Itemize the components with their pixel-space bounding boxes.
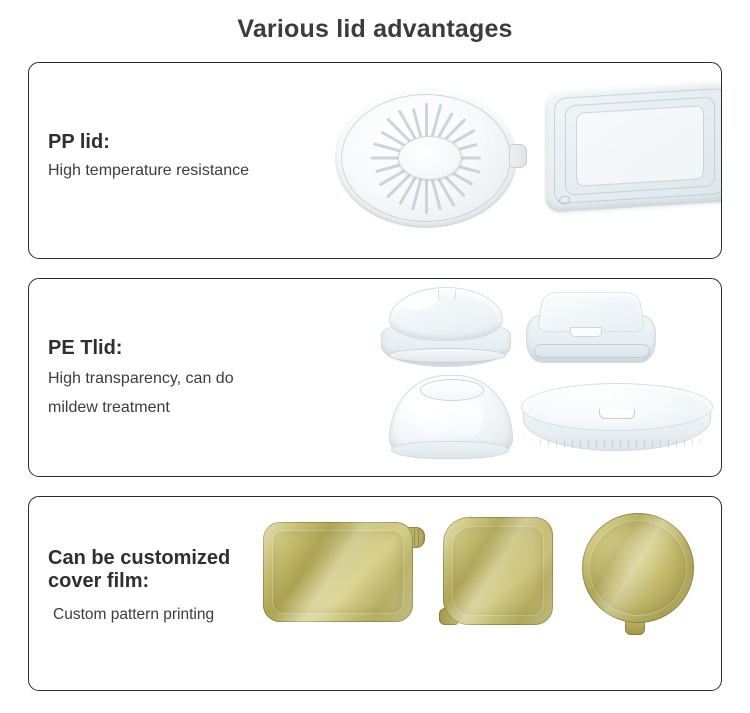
foil-rect-body [263,522,413,622]
card-pp-subtitle: High temperature resistance [48,158,249,183]
rect-lid-corner-notch [559,195,570,205]
foil-square-body [443,517,553,625]
flat-lid-top-face [521,383,713,431]
card-pp-lid: PP lid: High temperature resistance [28,62,722,259]
round-pp-lid-image [332,78,527,238]
rect-lid-rib-inner [576,105,704,187]
foil-square-inner-panel [452,526,544,616]
card-cover-film-subtitle: Custom pattern printing [48,602,230,627]
card-pe-text-block: PE Tlid: High transparency, can do milde… [48,337,234,422]
foil-rect-inner-panel [272,530,404,614]
foil-round-body [582,513,694,623]
dome-lid-facet-left [416,401,453,441]
round-gold-foil-lid-image [577,513,707,635]
dome-lid-top-face [420,379,484,401]
dome-lid-facet-right [448,401,485,441]
rectangular-pp-lid-image [545,85,722,220]
square-gold-foil-lid-image [439,517,563,635]
card-pe-heading: PE Tlid: [48,337,234,360]
card-pp-heading: PP lid: [48,131,249,154]
heart-lid-dome [389,287,503,341]
square-pe-lid-image [526,287,654,367]
heart-lid-cleft [438,290,456,303]
round-pp-lid-center-panel [398,136,462,180]
card-cover-film-heading: Can be customized cover film: [48,547,230,593]
square-lid-rim [534,344,650,358]
card-pp-text-block: PP lid: High temperature resistance [48,131,249,183]
dome-pe-lid-image [389,375,511,459]
rectangular-gold-foil-lid-image [263,516,425,626]
flat-oval-pe-lid-image [521,383,711,455]
rectangular-pp-lid-body [545,79,722,213]
card-cover-film-text-block: Can be customized cover film: Custom pat… [48,547,230,627]
card-pe-lid: PE Tlid: High transparency, can do milde… [28,278,722,477]
page-title: Various lid advantages [0,0,750,49]
heart-pe-lid-image [381,287,511,369]
dome-lid-base [391,441,509,459]
heart-lid-rim [388,348,506,363]
card-cover-film: Can be customized cover film: Custom pat… [28,496,722,691]
square-lid-tab [570,327,602,337]
flat-lid-rim-ribs [532,439,702,448]
card-pe-subtitle: High transparency, can do mildew treatme… [48,364,234,422]
foil-round-inner-panel [589,520,687,616]
round-pp-lid-tab [509,144,527,168]
flat-lid-notch [599,409,635,419]
